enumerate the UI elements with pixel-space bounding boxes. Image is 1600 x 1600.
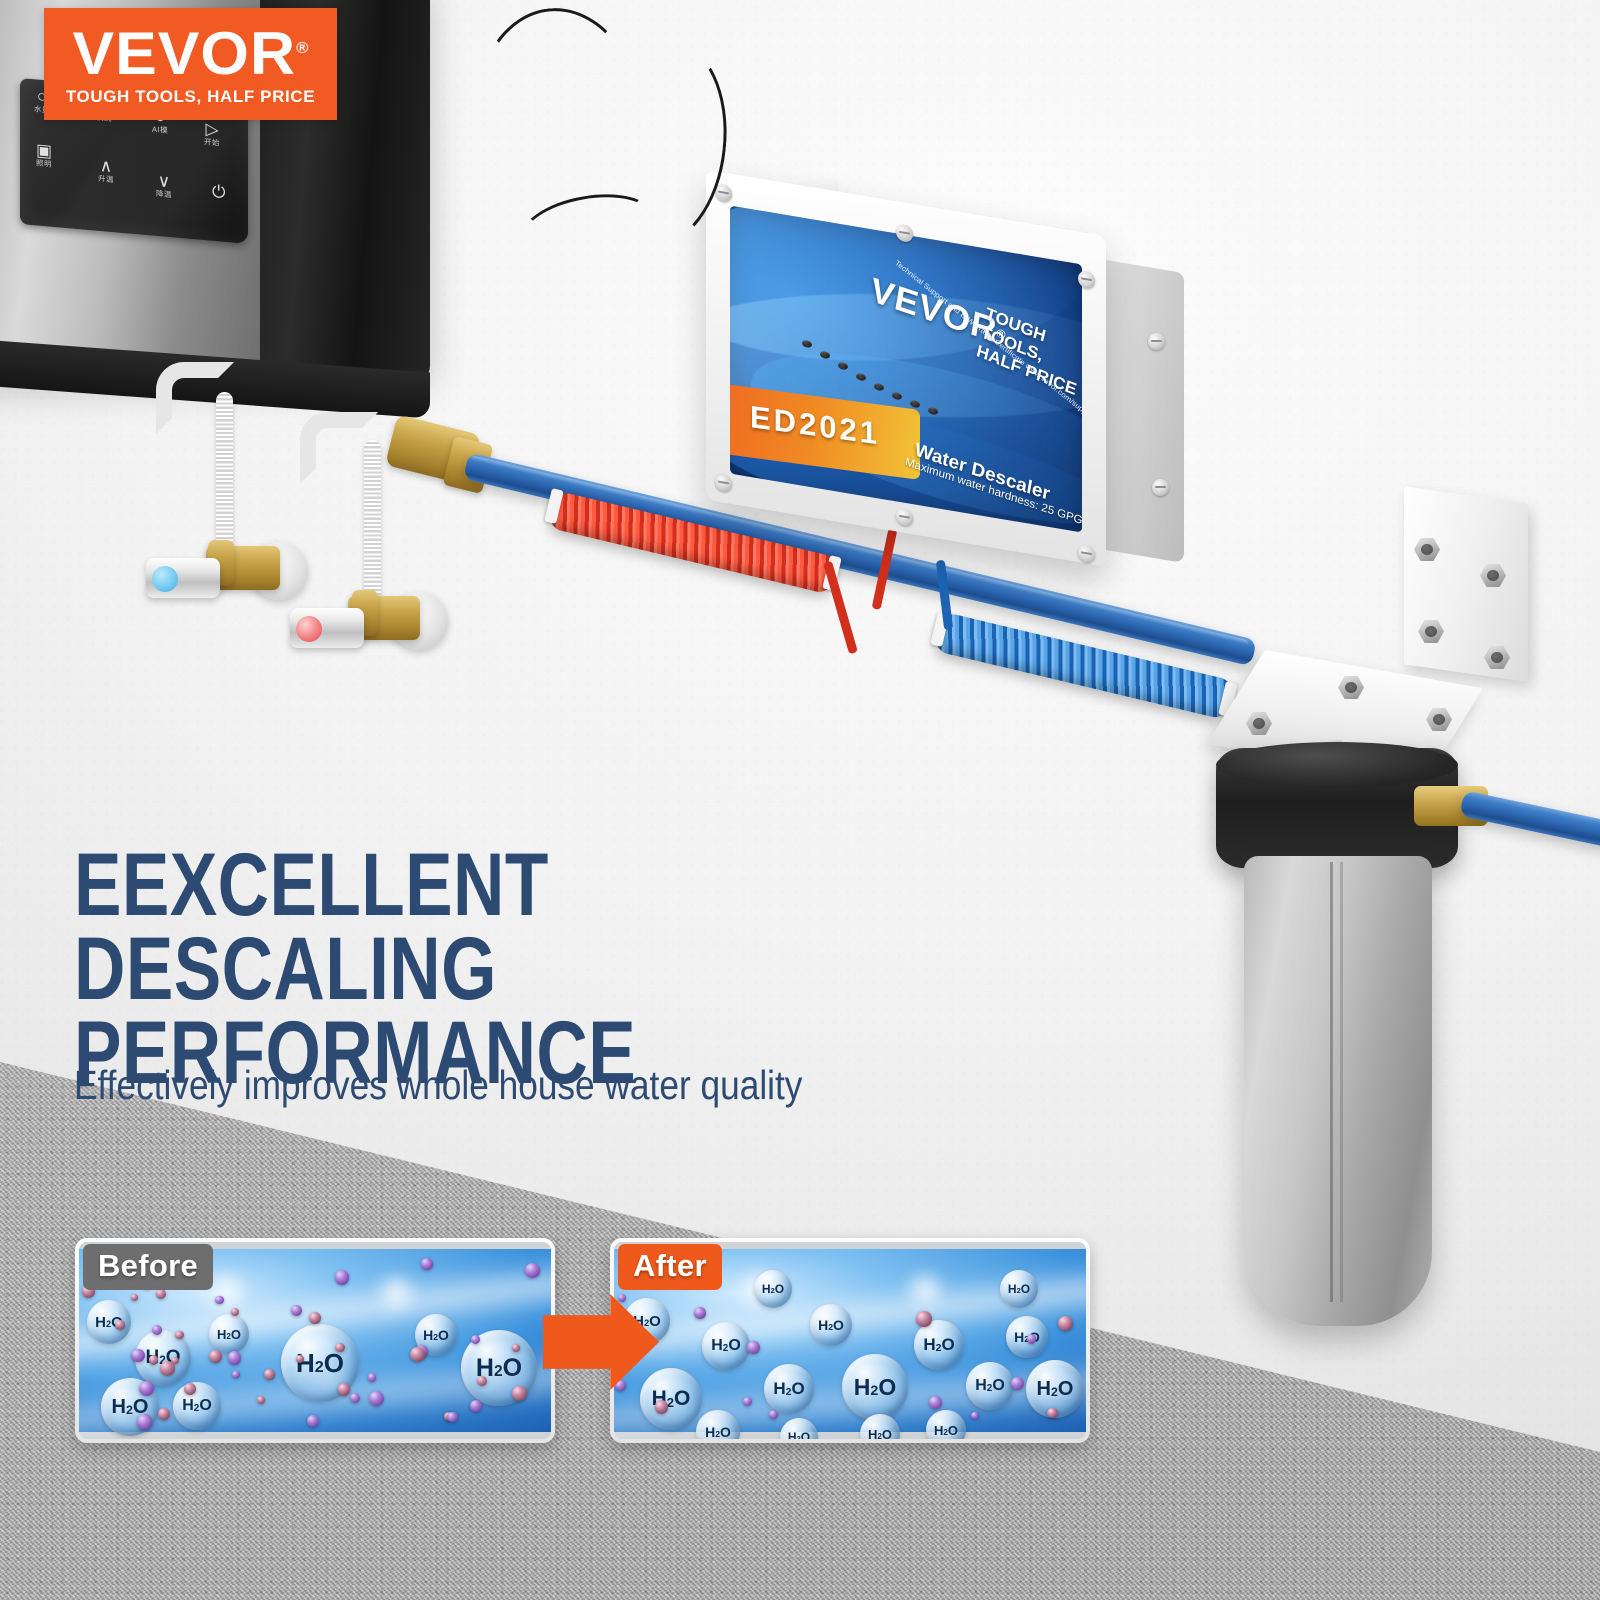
light-glow	[371, 1272, 421, 1314]
mineral-ion	[971, 1412, 979, 1420]
power-button[interactable]: ⏻	[212, 183, 225, 201]
side-screw	[1152, 479, 1169, 496]
filter-housing-body	[1244, 856, 1432, 1326]
mineral-ion	[916, 1311, 932, 1327]
mineral-ion	[410, 1347, 425, 1362]
cold-indicator	[152, 566, 178, 592]
mineral-ion	[335, 1270, 349, 1284]
h2o-molecule: H2O	[640, 1368, 702, 1430]
mineral-ion	[291, 1305, 302, 1316]
mineral-ion	[264, 1369, 275, 1380]
control-button[interactable]: ▷ 开始	[204, 120, 220, 147]
page-title: EEXCELLENT DESCALING PERFORMANCE	[74, 842, 874, 1094]
control-button[interactable]: ▣ 照明	[36, 141, 52, 168]
water-descaler-device[interactable]: VEVOR® TOUGH TOOLS, HALF PRICE Technical…	[676, 185, 1186, 585]
mineral-ion	[1027, 1334, 1036, 1343]
mineral-ion	[156, 1289, 166, 1299]
before-panel: H2OH2OH2OH2OH2OH2OH2OH2O Before	[75, 1238, 555, 1443]
hose-bend-left	[156, 362, 234, 434]
control-button[interactable]: ∧ 升温	[98, 157, 114, 184]
h2o-molecule: H2O	[966, 1362, 1014, 1410]
logo-wordmark: VEVOR®	[72, 21, 309, 82]
mineral-ion	[131, 1294, 138, 1301]
start-icon: ▷	[204, 120, 220, 138]
mineral-ion	[335, 1343, 344, 1352]
mineral-ion	[447, 1412, 457, 1422]
mineral-ion	[232, 1371, 240, 1379]
mineral-ion	[694, 1307, 705, 1318]
enclosure-screw	[1078, 544, 1095, 564]
brand-logo: VEVOR® TOUGH TOOLS, HALF PRICE	[44, 8, 337, 120]
mineral-ion	[338, 1383, 350, 1395]
mineral-ion	[149, 1355, 159, 1365]
page-subtitle: Effectively improves whole house water q…	[74, 1062, 802, 1109]
before-after-comparison: H2OH2OH2OH2OH2OH2OH2OH2O Before H2OH2OH2…	[75, 1238, 1090, 1443]
mineral-ion	[1047, 1408, 1057, 1418]
after-panel: H2OH2OH2OH2OH2OH2OH2OH2OH2OH2OH2OH2OH2OH…	[610, 1238, 1090, 1443]
light-icon: ▣	[36, 141, 52, 159]
logo-brand-name: VEVOR	[72, 20, 296, 87]
housing-seam	[1330, 862, 1333, 1302]
control-button-label: AI模	[152, 125, 168, 135]
after-badge: After	[618, 1244, 722, 1290]
mineral-ion	[139, 1381, 154, 1396]
temp-up-icon: ∧	[98, 157, 114, 175]
before-badge: Before	[83, 1244, 213, 1290]
mineral-ion	[350, 1393, 360, 1403]
product-label: VEVOR® TOUGH TOOLS, HALF PRICE Technical…	[730, 206, 1082, 533]
product-marketing-image: ○ 水量 ☲ 模式 ● AI模 ▷ 开始 ▣ 照明 ∧ 升温	[0, 0, 1600, 1600]
mineral-ion	[929, 1396, 942, 1409]
control-button-label: 开始	[204, 137, 220, 147]
mineral-ion	[209, 1350, 222, 1363]
h2o-molecule: H2O	[764, 1364, 814, 1414]
headline-line-1: EEXCELLENT DESCALING	[74, 842, 874, 1010]
control-button-label: 升温	[98, 174, 114, 184]
mineral-ion	[470, 1400, 482, 1412]
housing-seam	[1340, 862, 1343, 1302]
side-screw	[1148, 333, 1165, 350]
mineral-ion	[158, 1408, 170, 1420]
light-glow	[900, 1270, 950, 1310]
power-icon: ⏻	[212, 183, 225, 201]
mineral-ion	[228, 1351, 242, 1365]
mineral-ion	[215, 1296, 224, 1305]
control-button-label: 照明	[36, 158, 52, 168]
mineral-ion	[184, 1383, 196, 1395]
h2o-molecule: H2O	[173, 1382, 221, 1430]
h2o-molecule: H2O	[1000, 1270, 1038, 1308]
mineral-ion	[1058, 1316, 1073, 1331]
enclosure-screw	[715, 473, 732, 493]
filter-cap-top-face	[1216, 742, 1458, 788]
wall-mount-bracket	[1404, 486, 1528, 681]
h2o-molecule: H2O	[209, 1314, 249, 1354]
control-button[interactable]: ∨ 降温	[156, 172, 172, 199]
hot-indicator	[296, 616, 322, 642]
mineral-ion	[618, 1294, 626, 1302]
enclosure-front: VEVOR® TOUGH TOOLS, HALF PRICE Technical…	[706, 170, 1106, 567]
logo-tagline: TOUGH TOOLS, HALF PRICE	[66, 87, 315, 107]
h2o-molecule: H2O	[810, 1304, 852, 1346]
mineral-ion	[369, 1391, 384, 1406]
mineral-ion	[769, 1410, 778, 1419]
mineral-ion	[747, 1341, 760, 1354]
control-button-label: 降温	[156, 189, 172, 199]
mineral-ion	[137, 1414, 152, 1429]
enclosure-screw	[896, 507, 913, 527]
registered-mark-icon: ®	[296, 40, 309, 57]
mineral-ion	[421, 1258, 433, 1270]
temp-down-icon: ∨	[156, 172, 172, 190]
mineral-ion	[307, 1415, 319, 1427]
mineral-ion	[115, 1320, 125, 1330]
h2o-molecule: H2O	[842, 1354, 908, 1420]
hose-bend-right	[300, 412, 378, 484]
h2o-molecule: H2O	[702, 1322, 750, 1370]
h2o-molecule: H2O	[754, 1270, 792, 1308]
h2o-molecule: H2O	[914, 1320, 964, 1370]
